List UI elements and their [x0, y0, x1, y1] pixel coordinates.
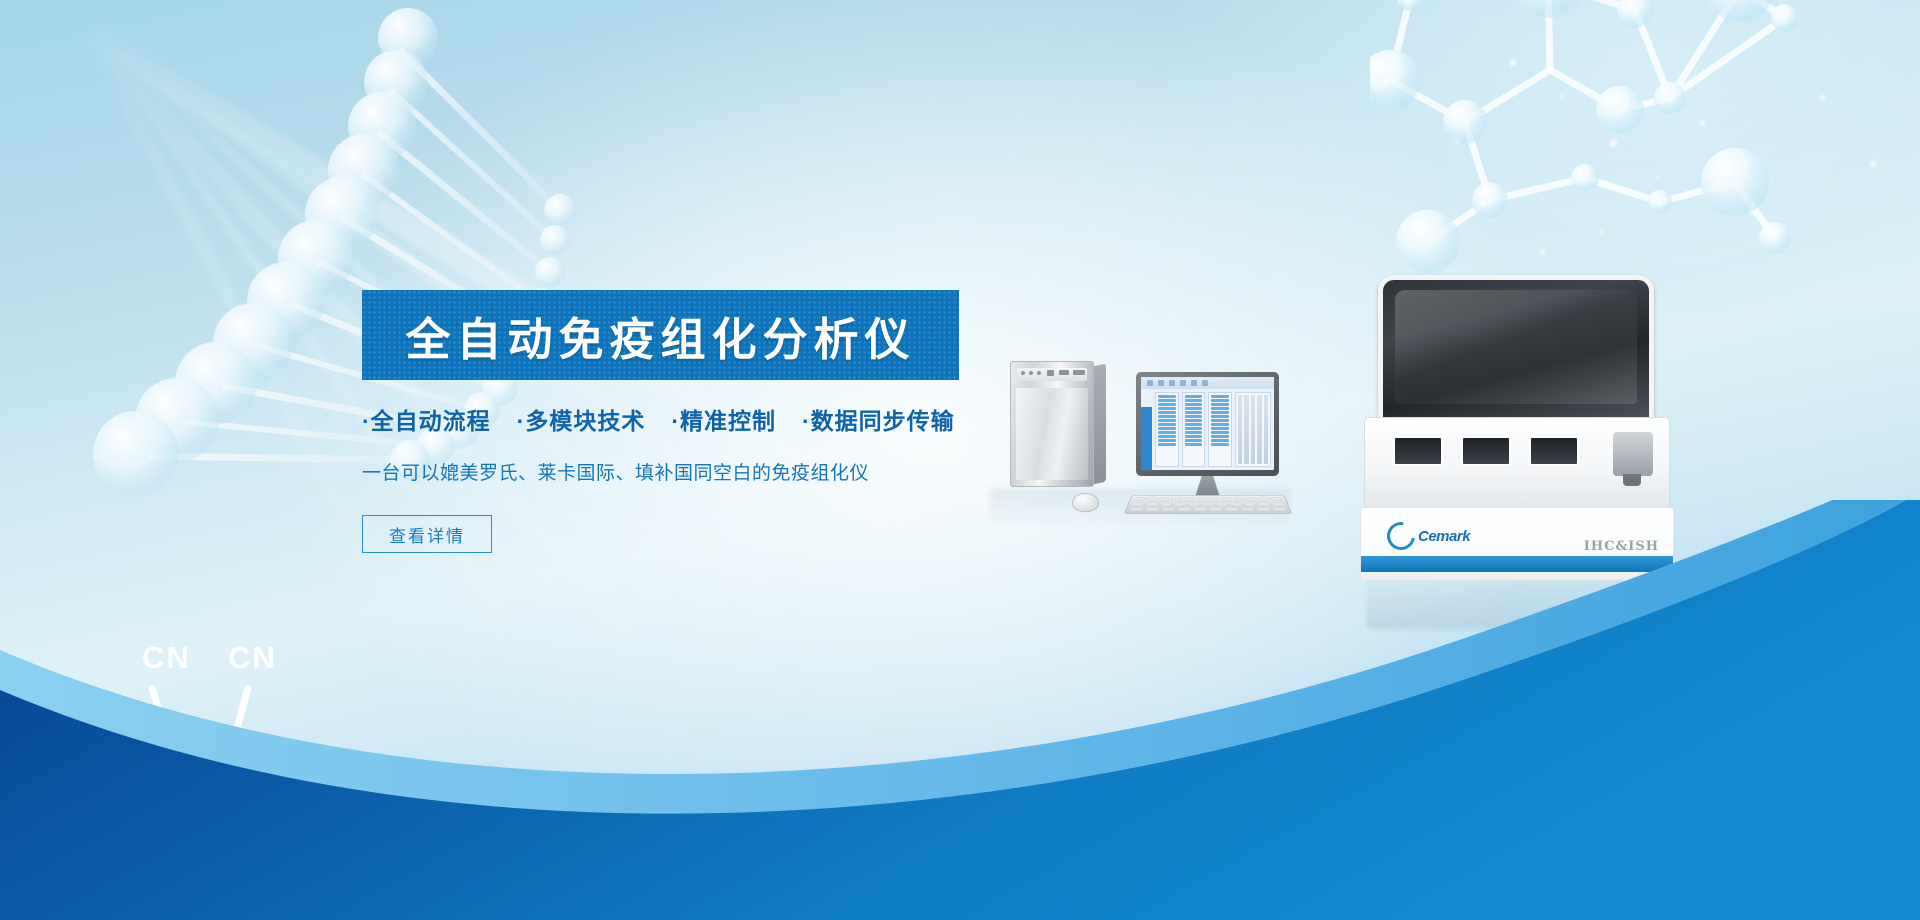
toolbar-icon	[1147, 380, 1153, 386]
banner-copy-block: 全自动免疫组化分析仪 ·全自动流程 ·多模块技术 ·精准控制 ·数据同步传输 一…	[362, 290, 1062, 553]
bottom-wave-decoration	[0, 500, 1920, 920]
analyzer-optics-module	[1613, 432, 1653, 476]
toolbar-icon	[1191, 380, 1197, 386]
title-banner-bar: 全自动免疫组化分析仪	[362, 290, 959, 380]
feature-item-3: ·精准控制	[671, 402, 776, 436]
computer-monitor	[1136, 372, 1279, 476]
feature-item-2: ·多模块技术	[517, 402, 646, 436]
toolbar-icon	[1169, 380, 1175, 386]
feature-item-4: ·数据同步传输	[802, 402, 955, 436]
banner-stage: CN CN	[0, 0, 1920, 920]
view-details-button[interactable]: 查看详情	[362, 515, 492, 553]
toolbar-icon	[1158, 380, 1164, 386]
monitor-screen-ui	[1141, 377, 1274, 470]
analyzer-hood	[1378, 275, 1654, 423]
page-title: 全自动免疫组化分析仪	[405, 303, 915, 368]
feature-list: ·全自动流程 ·多模块技术 ·精准控制 ·数据同步传输	[362, 402, 1062, 436]
analyzer-mid-section	[1364, 417, 1670, 511]
feature-item-1: ·全自动流程	[362, 402, 491, 436]
banner-description: 一台可以媲美罗氏、莱卡国际、填补国同空白的免疫组化仪	[362, 458, 1062, 485]
toolbar-icon	[1202, 380, 1208, 386]
toolbar-icon	[1180, 380, 1186, 386]
